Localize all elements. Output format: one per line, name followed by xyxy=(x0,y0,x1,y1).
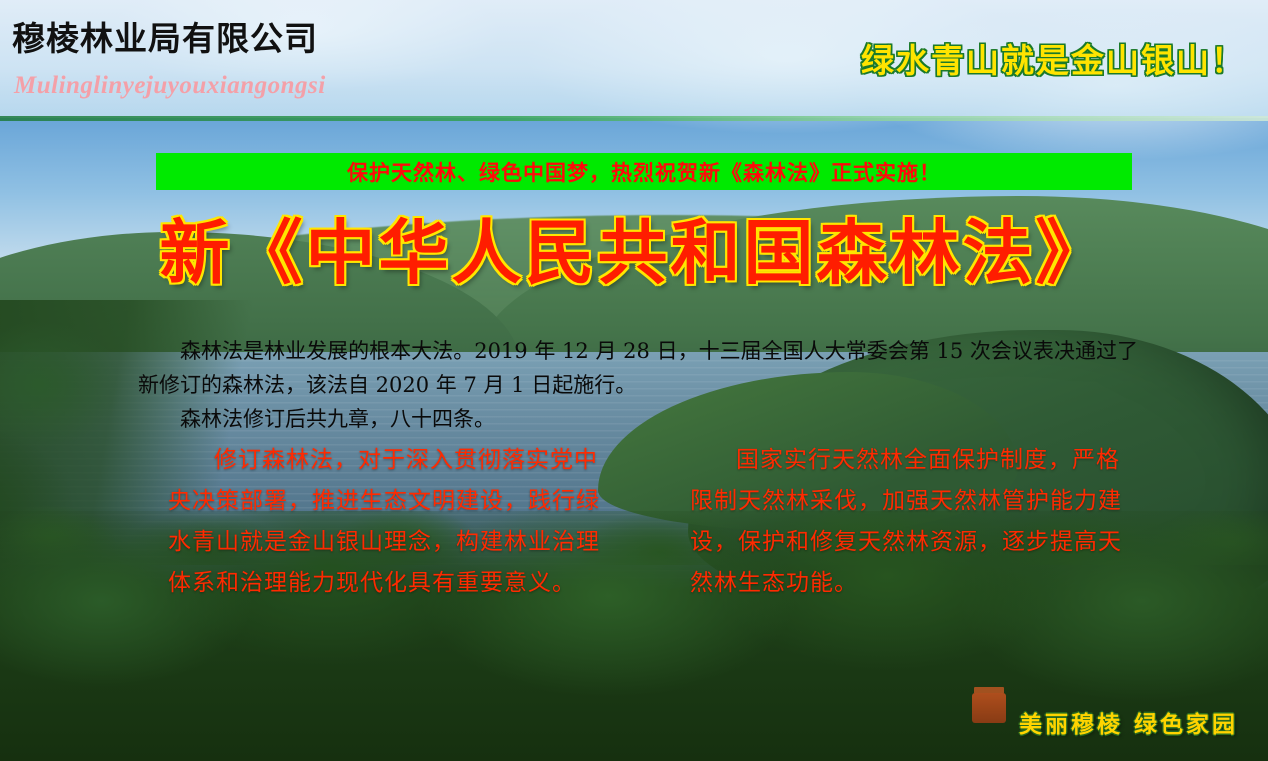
right-column-text: 国家实行天然林全面保护制度，严格限制天然林采伐，加强天然林管护能力建设，保护和修… xyxy=(690,440,1130,604)
top-slogan: 绿水青山就是金山银山！ xyxy=(861,34,1246,82)
announcement-banner-text: 保护天然林、绿色中国梦，热烈祝贺新《森林法》正式实施！ xyxy=(347,157,941,187)
footer-slogan: 美丽穆棱 绿色家园 xyxy=(1019,705,1238,739)
left-column-text: 修订森林法，对于深入贯彻落实党中央决策部署，推进生态文明建设，践行绿水青山就是金… xyxy=(168,440,608,604)
right-column-block: 国家实行天然林全面保护制度，严格限制天然林采伐，加强天然林管护能力建设，保护和修… xyxy=(690,440,1130,604)
intro-text-block: 森林法是林业发展的根本大法。2019 年 12 月 28 日，十三届全国人大常委… xyxy=(138,334,1138,436)
left-column-block: 修订森林法，对于深入贯彻落实党中央决策部署，推进生态文明建设，践行绿水青山就是金… xyxy=(168,440,608,604)
poster-canvas: 穆棱林业局有限公司 Mulinglinyejuyouxiangongsi 绿水青… xyxy=(0,0,1268,761)
page-title: 新《中华人民共和国森林法》 xyxy=(0,214,1268,292)
intro-paragraph-2: 森林法修订后共九章，八十四条。 xyxy=(138,402,1138,436)
announcement-banner: 保护天然林、绿色中国梦，热烈祝贺新《森林法》正式实施！ xyxy=(156,153,1132,190)
header-divider-rule xyxy=(0,116,1268,121)
pavilion-building xyxy=(972,693,1006,723)
company-name-chinese: 穆棱林业局有限公司 xyxy=(12,12,318,60)
intro-paragraph-1: 森林法是林业发展的根本大法。2019 年 12 月 28 日，十三届全国人大常委… xyxy=(138,334,1138,402)
company-name-pinyin: Mulinglinyejuyouxiangongsi xyxy=(14,72,326,100)
